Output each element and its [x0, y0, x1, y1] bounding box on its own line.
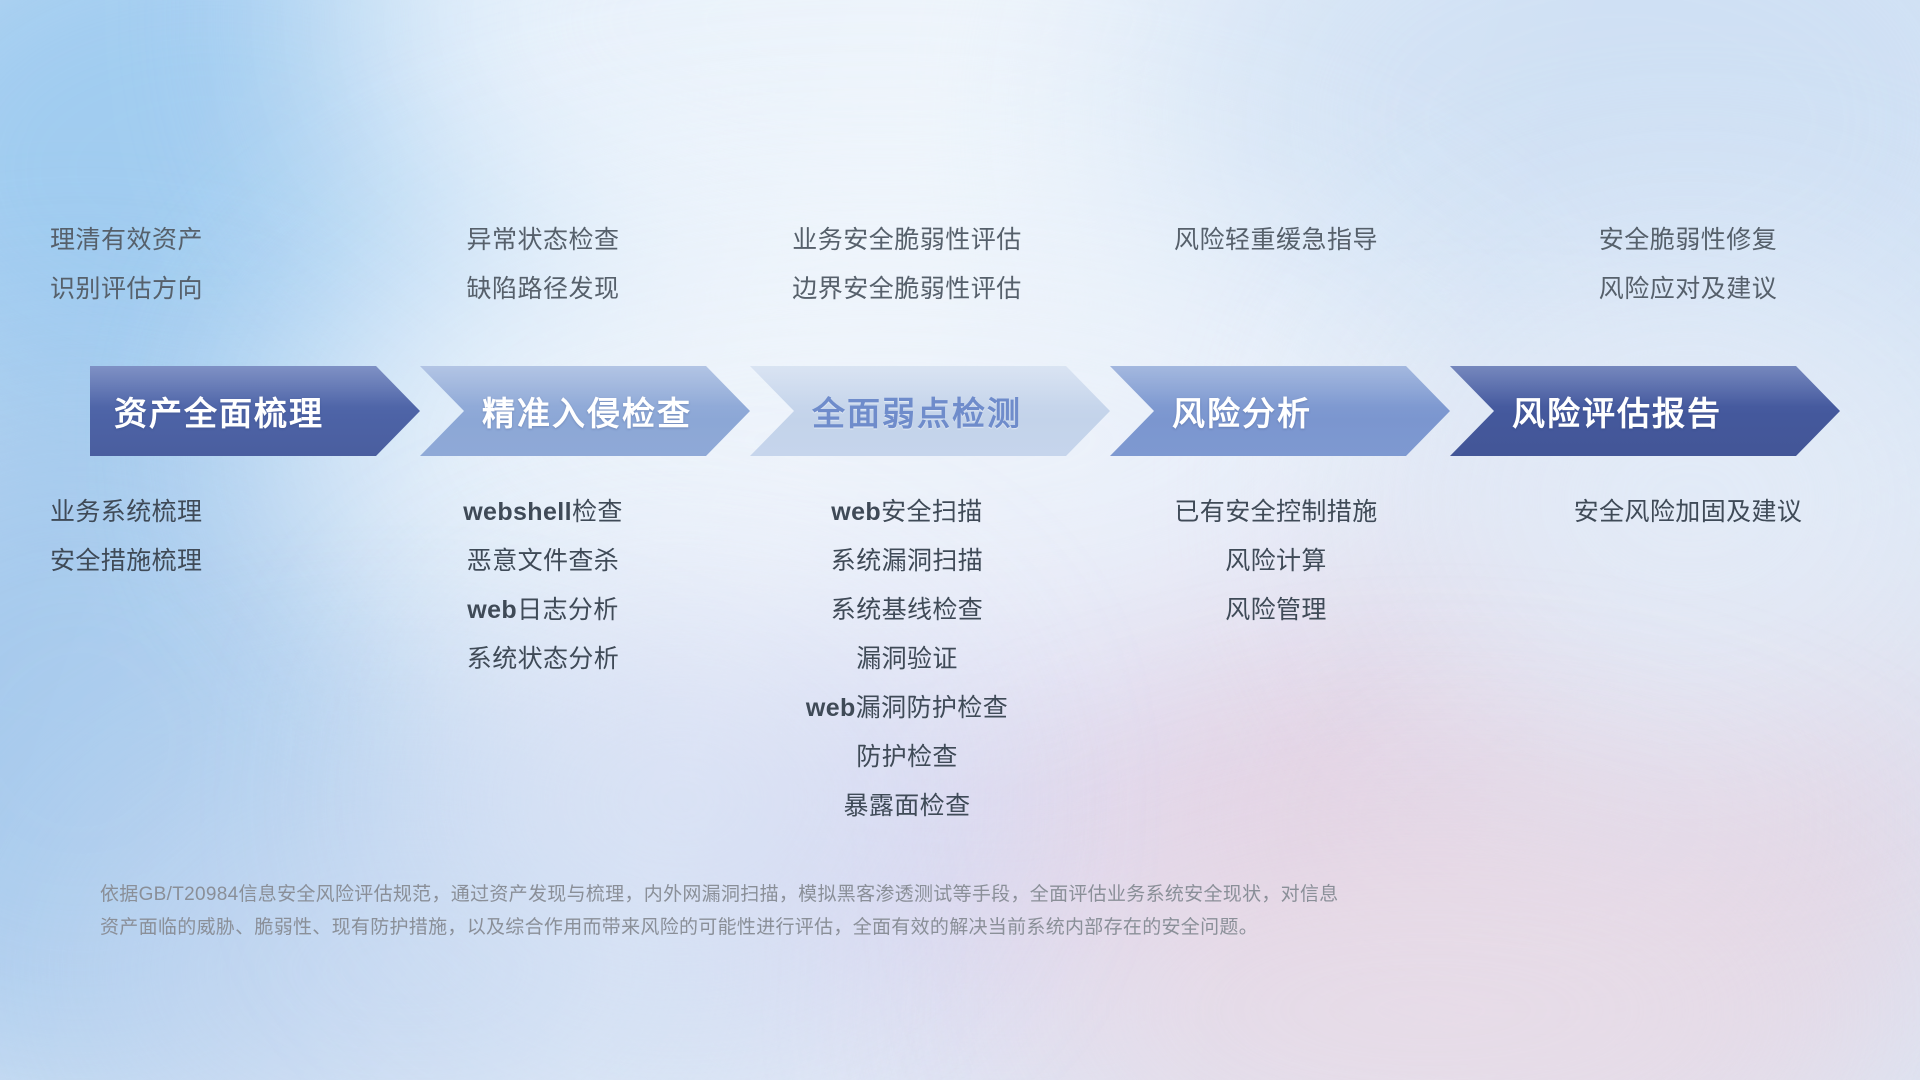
- footer-description: 依据GB/T20984信息安全风险评估规范，通过资产发现与梳理，内外网漏洞扫描，…: [100, 878, 1710, 945]
- stage-arrow-3[interactable]: 全面弱点检测: [750, 366, 1110, 456]
- top-label: 理清有效资产: [50, 228, 368, 253]
- top-label: 业务安全脆弱性评估: [718, 228, 1096, 253]
- bottom-items-stage-5: 安全风险加固及建议: [1456, 500, 1920, 819]
- list-item: 系统状态分析: [368, 647, 718, 672]
- list-item: 恶意文件查杀: [368, 549, 718, 574]
- top-label: 缺陷路径发现: [368, 277, 718, 302]
- top-label: 安全脆弱性修复: [1456, 228, 1920, 253]
- top-label: 识别评估方向: [50, 277, 368, 302]
- stage-arrow-5[interactable]: 风险评估报告: [1450, 366, 1840, 456]
- list-item: web安全扫描: [718, 500, 1096, 525]
- bottom-list-row: 业务系统梳理 安全措施梳理 webshell检查 恶意文件查杀 web日志分析 …: [0, 500, 1920, 819]
- list-item: 业务系统梳理: [50, 500, 368, 525]
- bottom-items-stage-2: webshell检查 恶意文件查杀 web日志分析 系统状态分析: [368, 500, 718, 819]
- top-labels-stage-3: 业务安全脆弱性评估 边界安全脆弱性评估: [718, 228, 1096, 302]
- list-item: 安全风险加固及建议: [1456, 500, 1920, 525]
- list-item: 安全措施梳理: [50, 549, 368, 574]
- top-label-row: 理清有效资产 识别评估方向 异常状态检查 缺陷路径发现 业务安全脆弱性评估 边界…: [0, 228, 1920, 302]
- stage-arrow-label: 资产全面梳理: [90, 387, 420, 435]
- list-item: 系统基线检查: [718, 598, 1096, 623]
- list-item: webshell检查: [368, 500, 718, 525]
- stage-arrow-2[interactable]: 精准入侵检查: [420, 366, 750, 456]
- stage-arrow-label: 精准入侵检查: [420, 387, 750, 435]
- top-labels-stage-2: 异常状态检查 缺陷路径发现: [368, 228, 718, 302]
- list-item: 风险管理: [1096, 598, 1456, 623]
- footer-description-line: 依据GB/T20984信息安全风险评估规范，通过资产发现与梳理，内外网漏洞扫描，…: [100, 878, 1710, 911]
- top-labels-stage-5: 安全脆弱性修复 风险应对及建议: [1456, 228, 1920, 302]
- bottom-items-stage-1: 业务系统梳理 安全措施梳理: [0, 500, 368, 819]
- list-item: 防护检查: [718, 745, 1096, 770]
- stage-arrow-label: 全面弱点检测: [750, 387, 1110, 435]
- stage-arrow-1[interactable]: 资产全面梳理: [90, 366, 420, 456]
- list-item: web日志分析: [368, 598, 718, 623]
- footer-description-line: 资产面临的威胁、脆弱性、现有防护措施，以及综合作用而带来风险的可能性进行评估，全…: [100, 911, 1710, 944]
- list-item: 漏洞验证: [718, 647, 1096, 672]
- top-label: 异常状态检查: [368, 228, 718, 253]
- top-labels-stage-4: 风险轻重缓急指导: [1096, 228, 1456, 302]
- bottom-items-stage-3: web安全扫描 系统漏洞扫描 系统基线检查 漏洞验证 web漏洞防护检查 防护检…: [718, 500, 1096, 819]
- list-item: 已有安全控制措施: [1096, 500, 1456, 525]
- top-label: 边界安全脆弱性评估: [718, 277, 1096, 302]
- list-item: 系统漏洞扫描: [718, 549, 1096, 574]
- stage-arrow-4[interactable]: 风险分析: [1110, 366, 1450, 456]
- stage-arrow-label: 风险评估报告: [1450, 387, 1840, 435]
- top-label: 风险应对及建议: [1456, 277, 1920, 302]
- list-item: 风险计算: [1096, 549, 1456, 574]
- process-diagram: 理清有效资产 识别评估方向 异常状态检查 缺陷路径发现 业务安全脆弱性评估 边界…: [0, 0, 1920, 1080]
- top-label: 风险轻重缓急指导: [1096, 228, 1456, 253]
- top-labels-stage-1: 理清有效资产 识别评估方向: [0, 228, 368, 302]
- stage-arrow-label: 风险分析: [1110, 387, 1450, 435]
- list-item: web漏洞防护检查: [718, 696, 1096, 721]
- bottom-items-stage-4: 已有安全控制措施 风险计算 风险管理: [1096, 500, 1456, 819]
- stage-arrow-band: 资产全面梳理 精准入侵检查 全面弱点检测 风险分析 风险评估报告: [90, 366, 1840, 456]
- list-item: 暴露面检查: [718, 794, 1096, 819]
